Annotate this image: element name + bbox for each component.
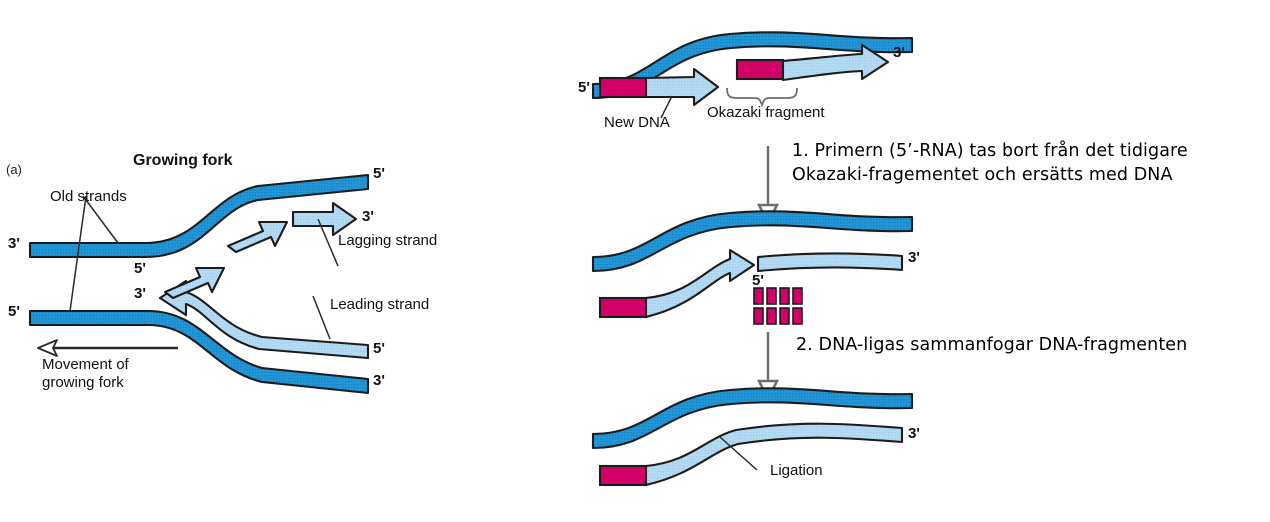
end-label-fork-lagging: 5' — [134, 260, 146, 278]
panel-a-id: (a) — [6, 162, 22, 177]
okazaki-brace — [727, 88, 797, 105]
step1-five-prime-left: 5' — [578, 79, 590, 97]
panel-b-step2-artwork — [593, 211, 912, 390]
step3-three-prime-right: 3' — [908, 425, 920, 443]
dna-replication-figure: (a) Growing fork Old strands Lagging str… — [0, 0, 1270, 522]
new-dna-label: New DNA — [604, 114, 670, 132]
end-label-template-top-left: 3' — [8, 235, 20, 253]
panel-b-step3-artwork — [593, 388, 912, 485]
lagging-okazaki-arrow-3 — [293, 203, 356, 235]
panel-a-title: Growing fork — [133, 152, 233, 171]
step2-three-prime-right: 3' — [908, 249, 920, 267]
end-label-leading-right: 5' — [373, 340, 385, 358]
end-label-template-top-right: 5' — [373, 165, 385, 183]
leading-strand-leader — [313, 296, 330, 339]
ligation-label: Ligation — [770, 462, 823, 480]
leading-strand-ribbon — [160, 281, 368, 358]
lagging-strand-label: Lagging strand — [338, 232, 437, 250]
lagging-okazaki-arrow-1 — [165, 268, 224, 298]
end-label-lagging-right: 3' — [362, 208, 374, 226]
annotation-1-line-2: Okazaki-fragementet och ersätts med DNA — [792, 164, 1173, 187]
step1-three-prime-right: 3' — [893, 44, 905, 62]
step2-downstream-fragment — [758, 253, 902, 271]
old-strands-label: Old strands — [50, 188, 127, 206]
step1-rna-primer-left — [600, 78, 646, 97]
leading-strand-label: Leading strand — [330, 296, 429, 314]
annotation-1-line-1: 1. Primern (5’-RNA) tas bort från det ti… — [792, 140, 1188, 163]
figure-artwork — [0, 0, 1270, 522]
step2-five-prime-gap: 5' — [752, 272, 764, 290]
lagging-okazaki-arrow-2 — [228, 222, 287, 252]
excised-rna-nucleotides — [754, 288, 802, 324]
step2-extended-dna-arrow — [646, 250, 754, 317]
step2-rna-primer-left — [600, 298, 646, 317]
end-label-template-bottom-left: 5' — [8, 303, 20, 321]
step3-rna-primer-left — [600, 466, 646, 485]
fork-movement-label: Movement of growing fork — [42, 356, 129, 391]
annotation-2-line-1: 2. DNA-ligas sammanfogar DNA-fragmenten — [796, 334, 1187, 357]
end-label-template-bottom-right: 3' — [373, 372, 385, 390]
step1-rna-primer-okazaki — [737, 60, 783, 79]
end-label-fork-leading: 3' — [134, 285, 146, 303]
fork-movement-arrow — [38, 340, 178, 356]
okazaki-fragment-label: Okazaki fragment — [707, 104, 825, 122]
